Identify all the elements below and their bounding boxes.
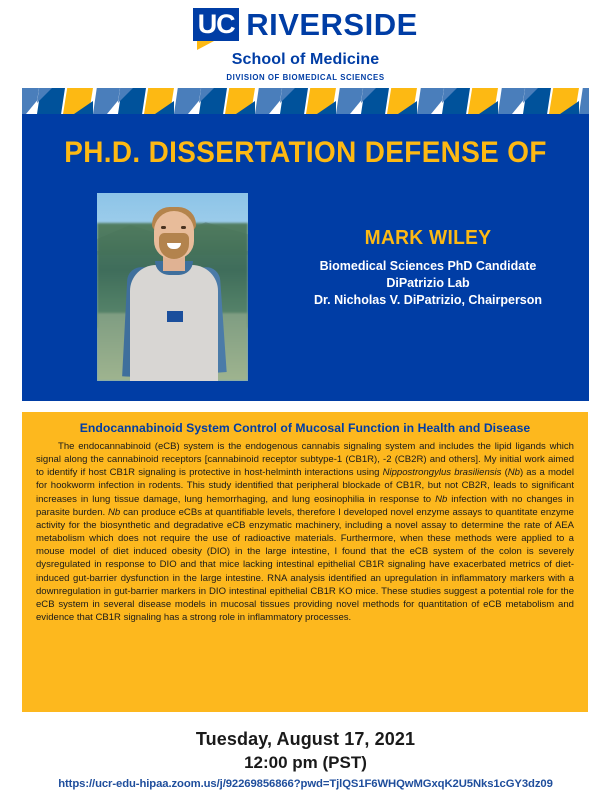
hero-panel: PH.D. DISSERTATION DEFENSE OF MARK WILEY… bbox=[22, 114, 589, 401]
chevron-unit bbox=[174, 88, 255, 114]
uc-monogram-icon: UC bbox=[193, 8, 239, 44]
abstract-body: The endocannabinoid (eCB) system is the … bbox=[36, 440, 574, 624]
abstract-panel: Endocannabinoid System Control of Mucosa… bbox=[22, 412, 588, 712]
uc-monogram-text: UC bbox=[193, 8, 239, 41]
riverside-wordmark: RIVERSIDE bbox=[246, 8, 418, 42]
abstract-text-run: can produce eCBs at quantifiable levels,… bbox=[36, 507, 574, 623]
chevron-unit bbox=[498, 88, 579, 114]
event-time: 12:00 pm (PST) bbox=[0, 753, 611, 773]
candidate-program: Biomedical Sciences PhD Candidate bbox=[267, 258, 589, 275]
chevron-unit bbox=[336, 88, 417, 114]
chevron-unit bbox=[579, 88, 589, 114]
event-date: Tuesday, August 17, 2021 bbox=[0, 729, 611, 750]
event-title: PH.D. DISSERTATION DEFENSE OF bbox=[42, 136, 569, 170]
chevron-unit bbox=[93, 88, 174, 114]
photo-eye-left bbox=[161, 226, 166, 229]
candidate-lab: DiPatrizio Lab bbox=[267, 275, 589, 292]
school-of-medicine-label: School of Medicine bbox=[0, 51, 611, 69]
abstract-italic-term: Nb bbox=[508, 467, 520, 478]
division-label: DIVISION OF BIOMEDICAL SCIENCES bbox=[24, 72, 586, 82]
zoom-meeting-link[interactable]: https://ucr-edu-hipaa.zoom.us/j/92269856… bbox=[0, 778, 611, 790]
abstract-title: Endocannabinoid System Control of Mucosa… bbox=[36, 421, 574, 435]
candidate-photo bbox=[97, 193, 248, 381]
photo-eye-right bbox=[181, 226, 186, 229]
photo-shirt-body bbox=[130, 265, 218, 381]
abstract-italic-term: Nb bbox=[435, 494, 447, 505]
event-footer: Tuesday, August 17, 2021 12:00 pm (PST) … bbox=[0, 729, 611, 790]
chevron-unit bbox=[255, 88, 336, 114]
chevron-shape bbox=[579, 88, 589, 114]
photo-shirt-ucr-logo bbox=[167, 311, 183, 322]
chevron-unit bbox=[417, 88, 498, 114]
candidate-details: MARK WILEY Biomedical Sciences PhD Candi… bbox=[267, 227, 589, 309]
ucr-logo-block: UC RIVERSIDE School of Medicine DIVISION… bbox=[0, 8, 611, 82]
uc-gold-tail-shape bbox=[197, 41, 214, 50]
abstract-italic-term: Nb bbox=[108, 507, 120, 518]
chevron-unit bbox=[22, 88, 93, 114]
candidate-chairperson: Dr. Nicholas V. DiPatrizio, Chairperson bbox=[267, 292, 589, 309]
logo-wordmark-row: UC RIVERSIDE bbox=[193, 8, 418, 48]
abstract-italic-term: Nippostrongylus brasiliensis bbox=[383, 467, 502, 478]
decorative-chevron-band bbox=[22, 88, 589, 114]
candidate-name: MARK WILEY bbox=[273, 227, 582, 250]
